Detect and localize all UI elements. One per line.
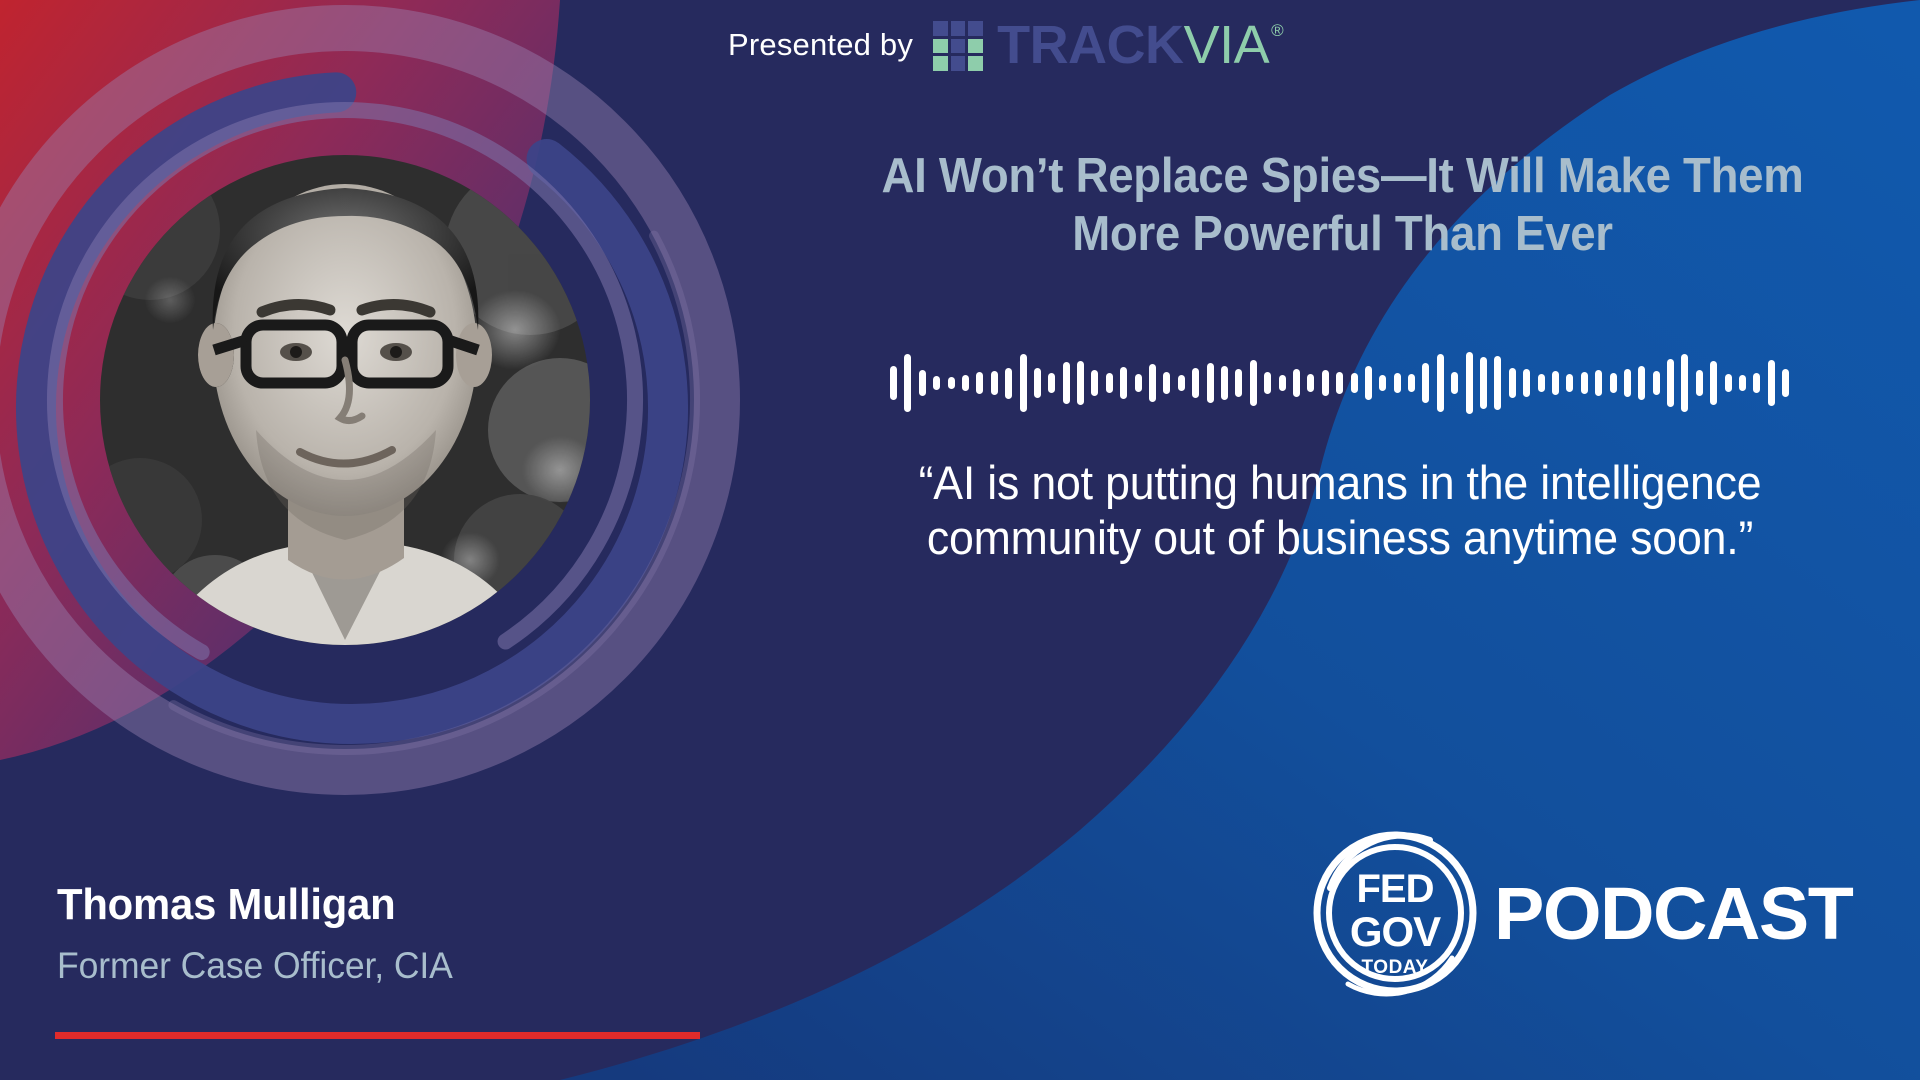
waveform-bar [1494,356,1501,410]
waveform-bar [1034,368,1041,398]
waveform-bar [1091,370,1098,396]
waveform-bar [976,372,983,394]
sponsor-bar: Presented by TRACK VIA ® [728,18,1284,72]
waveform-bar [1221,366,1228,400]
grid-cell [933,21,948,36]
grid-cell [951,39,966,54]
speaker-name: Thomas Mulligan [57,880,396,930]
grid-cell [951,56,966,71]
waveform-bar [1379,375,1386,391]
trackvia-logo[interactable]: TRACK VIA ® [933,18,1284,72]
grid-cell [933,39,948,54]
grid-cell [968,39,983,54]
waveform-bar [1005,368,1012,399]
svg-text:GOV: GOV [1350,908,1441,955]
waveform-bar [1250,360,1257,406]
waveform-bar [1595,370,1602,396]
waveform-bar [1422,363,1429,403]
audio-waveform [890,352,1790,414]
waveform-bar [1725,374,1732,392]
waveform-bar [1681,354,1688,412]
waveform-bar [1336,372,1343,394]
waveform-bar [1753,373,1760,393]
waveform-bar [1178,375,1185,391]
waveform-bar [919,370,926,396]
waveform-bar [1782,369,1789,397]
waveform-bar [1365,366,1372,400]
waveform-bar [1768,360,1775,406]
waveform-bar [904,354,911,412]
waveform-bar [1509,368,1516,398]
trackvia-wordmark-primary: TRACK [997,18,1183,72]
waveform-bar [1207,363,1214,403]
waveform-bar [1307,374,1314,392]
accent-rule [55,1032,700,1039]
speaker-title: Former Case Officer, CIA [57,945,453,987]
waveform-bar [1048,373,1055,393]
svg-text:FED: FED [1357,867,1434,911]
waveform-bar [1437,354,1444,412]
waveform-bar [1408,374,1415,392]
waveform-bar [1610,373,1617,393]
waveform-bar [1653,371,1660,395]
presented-by-label: Presented by [728,27,913,63]
waveform-bar [1667,359,1674,407]
waveform-bar [1063,362,1070,404]
trackvia-grid-icon [933,21,983,71]
waveform-bar [1480,357,1487,409]
waveform-bar [1538,374,1545,392]
waveform-bar [1739,375,1746,391]
waveform-bar [1293,369,1300,397]
podcast-wordmark: PODCAST [1494,877,1852,951]
podcast-promo-card: Presented by TRACK VIA ® AI Won’t Replac… [0,0,1920,1080]
svg-text:TODAY: TODAY [1362,957,1429,978]
waveform-bar [1235,369,1242,397]
waveform-bar [1638,366,1645,400]
trackvia-wordmark-secondary: VIA [1184,18,1270,72]
waveform-bar [1394,373,1401,393]
grid-cell [933,56,948,71]
waveform-bar [1077,361,1084,405]
waveform-bar [933,376,940,390]
episode-headline: AI Won’t Replace Spies—It Will Make Them… [829,148,1857,264]
waveform-bar [1264,372,1271,394]
waveform-bar [991,371,998,395]
waveform-bar [1451,372,1458,394]
waveform-bar [1696,370,1703,396]
waveform-bar [1163,372,1170,394]
grid-cell [968,56,983,71]
waveform-bar [962,375,969,391]
waveform-bar [1279,375,1286,391]
waveform-bar [1192,368,1199,398]
waveform-bar [1322,370,1329,396]
waveform-bar [890,366,897,400]
registered-trademark-icon: ® [1271,22,1284,39]
waveform-bar [1566,374,1573,392]
waveform-bar [1624,369,1631,397]
waveform-bar [948,377,955,389]
waveform-bar [1020,354,1027,412]
waveform-bar [1523,369,1530,397]
grid-cell [968,21,983,36]
waveform-bar [1710,361,1717,405]
waveform-bar [1466,352,1473,414]
grid-cell [951,21,966,36]
pull-quote: “AI is not putting humans in the intelli… [884,455,1796,566]
waveform-bar [1135,374,1142,392]
waveform-bar [1351,373,1358,393]
fedgov-today-podcast-logo[interactable]: FED GOV TODAY PODCAST [1300,818,1845,1008]
waveform-bar [1581,372,1588,394]
waveform-bar [1120,367,1127,399]
waveform-bar [1552,371,1559,395]
fedgov-today-badge-icon: FED GOV TODAY [1300,818,1490,1008]
waveform-bar [1106,373,1113,393]
waveform-bar [1149,364,1156,402]
